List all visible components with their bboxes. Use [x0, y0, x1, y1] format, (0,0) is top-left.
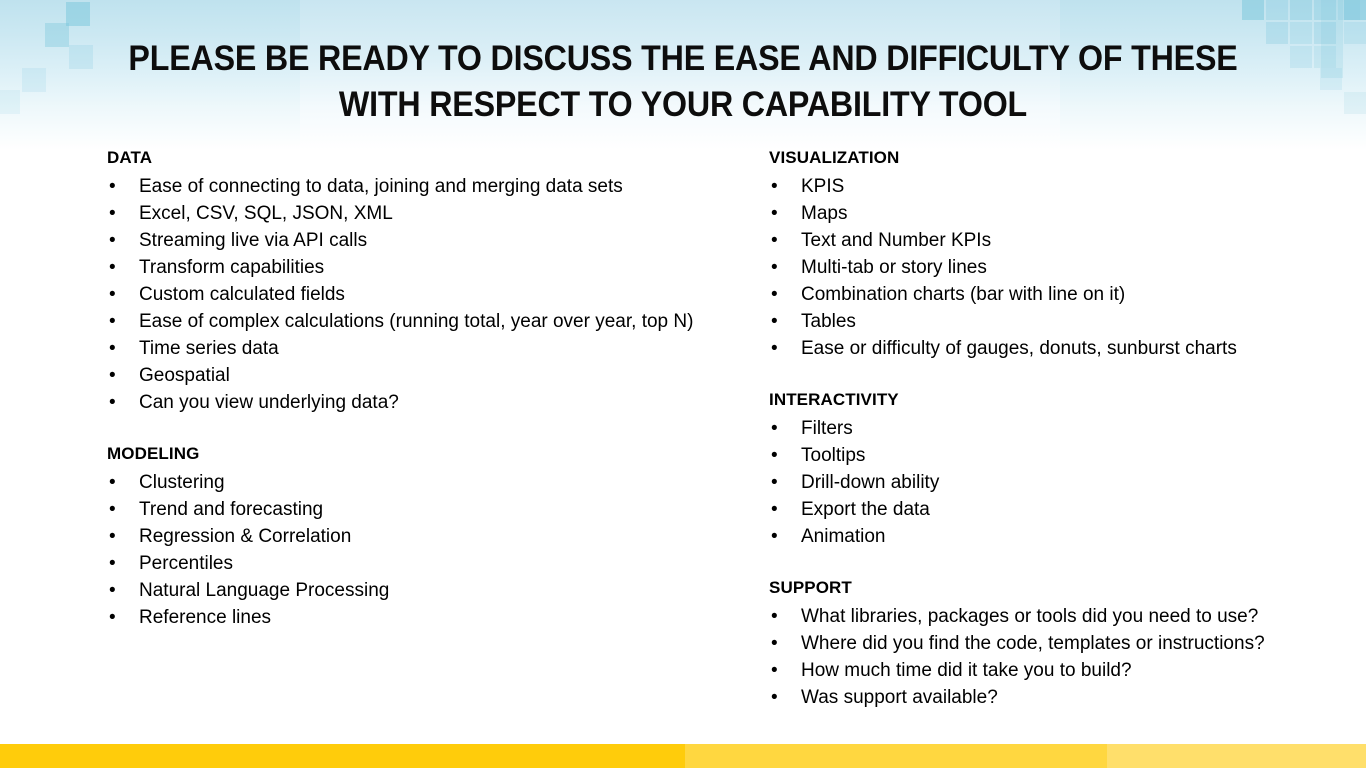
mosaic-square [1266, 22, 1288, 44]
bullet-item: •Tables [768, 308, 1358, 335]
bullet-dot-icon: • [771, 684, 778, 711]
bullet-dot-icon: • [771, 254, 778, 281]
mosaic-square [1290, 0, 1312, 20]
bullet-item: •KPIS [768, 173, 1358, 200]
bullet-text: Was support available? [801, 687, 998, 708]
bullet-dot-icon: • [771, 657, 778, 684]
bullet-dot-icon: • [109, 550, 116, 577]
bullet-dot-icon: • [109, 469, 116, 496]
bullet-text: Maps [801, 203, 847, 224]
bullet-text: Regression & Correlation [139, 526, 351, 547]
bullet-item: •Percentiles [106, 550, 697, 577]
bullet-dot-icon: • [771, 523, 778, 550]
bullet-text: Custom calculated fields [139, 284, 345, 305]
content-section: VISUALIZATION•KPIS•Maps•Text and Number … [768, 146, 1358, 362]
right-content-column: VISUALIZATION•KPIS•Maps•Text and Number … [768, 146, 1358, 711]
bullet-text: How much time did it take you to build? [801, 660, 1132, 681]
content-section: INTERACTIVITY•Filters•Tooltips•Drill-dow… [768, 388, 1358, 550]
bullet-text: Percentiles [139, 553, 233, 574]
section-heading: SUPPORT [769, 576, 1358, 600]
bullet-text: Ease of complex calculations (running to… [139, 311, 693, 332]
mosaic-square [69, 45, 93, 69]
bottom-accent-bar [0, 744, 1366, 768]
bullet-text: Ease of connecting to data, joining and … [139, 176, 623, 197]
content-section: MODELING•Clustering•Trend and forecastin… [106, 442, 706, 631]
bullet-text: Animation [801, 526, 886, 547]
bullet-dot-icon: • [771, 308, 778, 335]
mosaic-square [1314, 0, 1336, 20]
bullet-list: •Filters•Tooltips•Drill-down ability•Exp… [768, 415, 1358, 550]
bullet-item: •Combination charts (bar with line on it… [768, 281, 1358, 308]
bullet-text: Drill-down ability [801, 472, 939, 493]
bullet-text: Clustering [139, 472, 225, 493]
bullet-list: •KPIS•Maps•Text and Number KPIs•Multi-ta… [768, 173, 1358, 362]
mosaic-square [1290, 46, 1312, 68]
bullet-text: Can you view underlying data? [139, 392, 399, 413]
bullet-list: •What libraries, packages or tools did y… [768, 603, 1358, 711]
accent-bar-segment [0, 744, 685, 768]
content-section: DATA•Ease of connecting to data, joining… [106, 146, 706, 416]
mosaic-square [1321, 0, 1343, 78]
bullet-text: Streaming live via API calls [139, 230, 367, 251]
section-heading: MODELING [107, 442, 706, 466]
bullet-text: Transform capabilities [139, 257, 324, 278]
bullet-item: •Ease of connecting to data, joining and… [106, 173, 697, 200]
bullet-text: Text and Number KPIs [801, 230, 991, 251]
bullet-item: •Where did you find the code, templates … [768, 630, 1358, 657]
bullet-dot-icon: • [109, 173, 116, 200]
bullet-item: •Text and Number KPIs [768, 227, 1358, 254]
bullet-item: •Drill-down ability [768, 469, 1358, 496]
mosaic-square [1344, 22, 1366, 44]
bullet-item: •Export the data [768, 496, 1358, 523]
mosaic-square [1266, 0, 1288, 20]
mosaic-square [22, 68, 46, 92]
bullet-text: KPIS [801, 176, 844, 197]
bullet-dot-icon: • [109, 227, 116, 254]
slide-title-line-2: WITH RESPECT TO YOUR CAPABILITY TOOL [126, 82, 1239, 128]
bullet-dot-icon: • [771, 281, 778, 308]
bullet-item: •Can you view underlying data? [106, 389, 697, 416]
bullet-dot-icon: • [109, 200, 116, 227]
content-section: SUPPORT•What libraries, packages or tool… [768, 576, 1358, 711]
bullet-list: •Ease of connecting to data, joining and… [106, 173, 706, 416]
bullet-item: •Excel, CSV, SQL, JSON, XML [106, 200, 697, 227]
bullet-text: What libraries, packages or tools did yo… [801, 606, 1258, 627]
bullet-dot-icon: • [771, 227, 778, 254]
bullet-item: •Transform capabilities [106, 254, 697, 281]
bullet-item: •Geospatial [106, 362, 697, 389]
mosaic-square [1242, 0, 1264, 20]
bullet-item: •Filters [768, 415, 1358, 442]
bullet-dot-icon: • [109, 389, 116, 416]
bullet-dot-icon: • [771, 496, 778, 523]
bullet-text: Where did you find the code, templates o… [801, 633, 1265, 654]
bullet-text: Ease or difficulty of gauges, donuts, su… [801, 338, 1237, 359]
slide-title-line-1: PLEASE BE READY TO DISCUSS THE EASE AND … [126, 36, 1239, 82]
bullet-list: •Clustering•Trend and forecasting•Regres… [106, 469, 706, 631]
bullet-dot-icon: • [109, 254, 116, 281]
bullet-dot-icon: • [771, 469, 778, 496]
bullet-dot-icon: • [771, 442, 778, 469]
bullet-dot-icon: • [109, 362, 116, 389]
mosaic-square [45, 23, 69, 47]
bullet-dot-icon: • [771, 200, 778, 227]
mosaic-square [1344, 0, 1366, 20]
bullet-item: •Ease of complex calculations (running t… [106, 308, 697, 335]
left-content-column: DATA•Ease of connecting to data, joining… [106, 146, 706, 631]
bullet-item: •Clustering [106, 469, 697, 496]
bullet-text: Export the data [801, 499, 930, 520]
bullet-item: •How much time did it take you to build? [768, 657, 1358, 684]
bullet-item: •Animation [768, 523, 1358, 550]
bullet-item: •Regression & Correlation [106, 523, 697, 550]
bullet-dot-icon: • [109, 604, 116, 631]
bullet-dot-icon: • [771, 415, 778, 442]
bullet-item: •Maps [768, 200, 1358, 227]
bullet-text: Time series data [139, 338, 279, 359]
bullet-item: •Custom calculated fields [106, 281, 697, 308]
bullet-dot-icon: • [109, 335, 116, 362]
mosaic-square [1290, 22, 1312, 44]
bullet-text: Natural Language Processing [139, 580, 389, 601]
bullet-text: Geospatial [139, 365, 230, 386]
bullet-item: •Multi-tab or story lines [768, 254, 1358, 281]
bullet-text: Filters [801, 418, 853, 439]
bullet-item: •Trend and forecasting [106, 496, 697, 523]
bullet-dot-icon: • [771, 603, 778, 630]
bullet-item: •Time series data [106, 335, 697, 362]
bullet-dot-icon: • [771, 630, 778, 657]
bullet-dot-icon: • [109, 577, 116, 604]
bullet-text: Tooltips [801, 445, 865, 466]
bullet-item: •Tooltips [768, 442, 1358, 469]
bullet-text: Multi-tab or story lines [801, 257, 987, 278]
bullet-dot-icon: • [771, 173, 778, 200]
section-heading: INTERACTIVITY [769, 388, 1358, 412]
bullet-text: Reference lines [139, 607, 271, 628]
section-heading: VISUALIZATION [769, 146, 1358, 170]
mosaic-square [1320, 68, 1342, 90]
bullet-text: Trend and forecasting [139, 499, 323, 520]
bullet-dot-icon: • [109, 523, 116, 550]
section-heading: DATA [107, 146, 706, 170]
bullet-item: •Was support available? [768, 684, 1358, 711]
bullet-dot-icon: • [771, 335, 778, 362]
bullet-item: •Streaming live via API calls [106, 227, 697, 254]
bullet-item: •Reference lines [106, 604, 697, 631]
mosaic-square [0, 90, 20, 114]
bullet-text: Excel, CSV, SQL, JSON, XML [139, 203, 393, 224]
bullet-text: Tables [801, 311, 856, 332]
mosaic-square [1314, 46, 1336, 68]
mosaic-square [1344, 92, 1366, 114]
bullet-item: •What libraries, packages or tools did y… [768, 603, 1358, 630]
slide-title: PLEASE BE READY TO DISCUSS THE EASE AND … [126, 36, 1239, 128]
slide-canvas: PLEASE BE READY TO DISCUSS THE EASE AND … [0, 0, 1366, 768]
bullet-dot-icon: • [109, 496, 116, 523]
bullet-dot-icon: • [109, 281, 116, 308]
mosaic-square [1338, 0, 1360, 20]
bullet-item: •Ease or difficulty of gauges, donuts, s… [768, 335, 1358, 362]
accent-bar-segment [685, 744, 1107, 768]
bullet-text: Combination charts (bar with line on it) [801, 284, 1125, 305]
mosaic-square [1314, 22, 1336, 44]
mosaic-square [66, 2, 90, 26]
bullet-item: •Natural Language Processing [106, 577, 697, 604]
accent-bar-segment [1107, 744, 1366, 768]
bullet-dot-icon: • [109, 308, 116, 335]
